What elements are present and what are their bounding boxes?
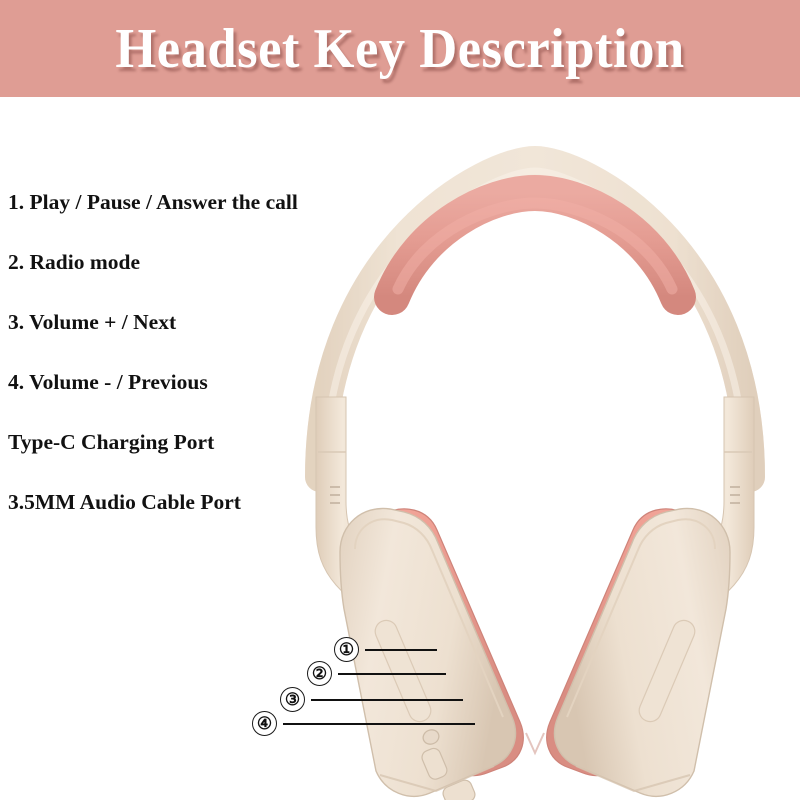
feature-item-audio-cable-port: 3.5MM Audio Cable Port (8, 472, 378, 532)
header-banner: Headset Key Description (0, 0, 800, 97)
callout-1-marker: ① (334, 637, 359, 662)
feature-item-type-c-port: Type-C Charging Port (8, 412, 378, 472)
callout-3-marker: ③ (280, 687, 305, 712)
callout-3-leader-line (311, 699, 463, 701)
callout-2-leader-line (338, 673, 446, 675)
feature-item-2: 2. Radio mode (8, 232, 378, 292)
page-title: Headset Key Description (24, 0, 776, 97)
feature-list: 1. Play / Pause / Answer the call 2. Rad… (8, 172, 378, 532)
feature-item-1: 1. Play / Pause / Answer the call (8, 172, 378, 232)
callout-4-marker: ④ (252, 711, 277, 736)
feature-item-3: 3. Volume + / Next (8, 292, 378, 352)
callout-2-marker: ② (307, 661, 332, 686)
callout-1-leader-line (365, 649, 437, 651)
feature-item-4: 4. Volume - / Previous (8, 352, 378, 412)
callout-4-leader-line (283, 723, 475, 725)
earcup-contact-shadow (526, 733, 544, 753)
